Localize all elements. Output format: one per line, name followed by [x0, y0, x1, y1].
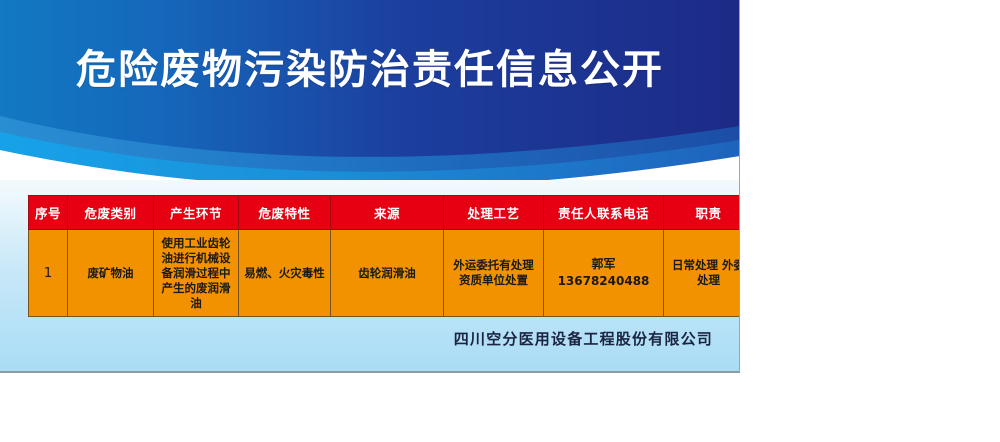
cell-treatment: 外运委托有处理资质单位处置 [444, 230, 544, 317]
hazardous-waste-table: 序号 危废类别 产生环节 危废特性 来源 处理工艺 责任人联系电话 职责 1 废… [28, 195, 740, 317]
column-header-characteristics: 危废特性 [239, 196, 331, 230]
cell-duty: 日常处理 外委处理 [664, 230, 741, 317]
cell-generation-stage: 使用工业齿轮油进行机械设备润滑过程中产生的废润滑油 [154, 230, 239, 317]
table-row: 1 废矿物油 使用工业齿轮油进行机械设备润滑过程中产生的废润滑油 易燃、火灾毒性… [29, 230, 741, 317]
cell-contact: 郭军13678240488 [544, 230, 664, 317]
contact-phone: 13678240488 [558, 274, 650, 288]
column-header-generation-stage: 产生环节 [154, 196, 239, 230]
table-header: 序号 危废类别 产生环节 危废特性 来源 处理工艺 责任人联系电话 职责 [29, 196, 741, 230]
column-header-source: 来源 [331, 196, 444, 230]
column-header-duty: 职责 [664, 196, 741, 230]
column-header-contact-phone: 责任人联系电话 [544, 196, 664, 230]
table-body: 1 废矿物油 使用工业齿轮油进行机械设备润滑过程中产生的废润滑油 易燃、火灾毒性… [29, 230, 741, 317]
table-header-row: 序号 危废类别 产生环节 危废特性 来源 处理工艺 责任人联系电话 职责 [29, 196, 741, 230]
company-name: 四川空分医用设备工程股份有限公司 [0, 328, 713, 349]
column-header-index: 序号 [29, 196, 68, 230]
hazardous-waste-disclosure-poster: 危险废物污染防治责任信息公开 序号 危废类别 产生环节 危废特性 来源 处理工艺… [0, 0, 740, 373]
column-header-treatment: 处理工艺 [444, 196, 544, 230]
cell-source: 齿轮润滑油 [331, 230, 444, 317]
contact-name: 郭军 [591, 257, 615, 271]
cell-characteristics: 易燃、火灾毒性 [239, 230, 331, 317]
cell-category: 废矿物油 [68, 230, 154, 317]
cell-index: 1 [29, 230, 68, 317]
banner: 危险废物污染防治责任信息公开 [0, 0, 740, 180]
page-title: 危险废物污染防治责任信息公开 [0, 44, 740, 96]
column-header-category: 危废类别 [68, 196, 154, 230]
